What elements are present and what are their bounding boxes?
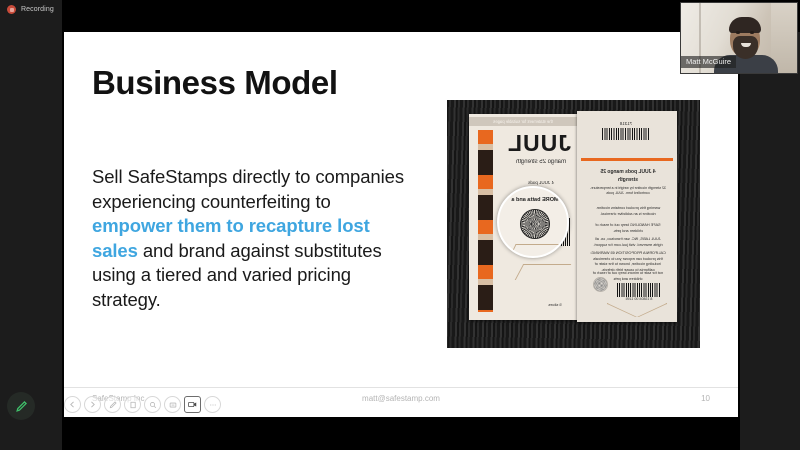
chevron-left-icon — [69, 401, 76, 408]
packaging-flavor-text: mango 25 strength — [511, 158, 571, 167]
page-title: Business Model — [92, 64, 338, 102]
notes-icon — [129, 401, 137, 409]
video-participant-eye-right — [750, 31, 754, 34]
next-slide-button[interactable] — [84, 396, 101, 413]
notes-button[interactable] — [124, 396, 141, 413]
packaging-header-text: the statement for suitable pages — [469, 117, 577, 126]
body-lead-text: Sell SafeStamps directly to companies ex… — [92, 166, 404, 212]
footer-page-number: 10 — [701, 394, 710, 403]
participant-name-label: Matt McGuire — [681, 56, 736, 68]
magnifier-callout: MORE batta and a — [497, 186, 569, 258]
packaging-description-line: 32 strength nicotine by weight in a temp… — [587, 186, 669, 197]
pen-icon — [15, 400, 28, 413]
video-participant-eye-left — [736, 31, 740, 34]
chevron-right-icon — [89, 401, 96, 408]
pen-icon — [109, 401, 117, 409]
recording-indicator: Recording — [7, 5, 54, 14]
recording-dot-icon — [7, 5, 16, 14]
slide-body-text: Sell SafeStamps directly to companies ex… — [92, 165, 404, 313]
packaging-bottom-barcode-number: 8 15804 00 1195 — [615, 297, 663, 301]
presentation-toolbar — [64, 396, 221, 413]
packaging-corner-text: 5 slices — [541, 302, 569, 307]
packaging-warning-line: warning this product contains nicotine. … — [593, 206, 663, 217]
magnified-security-stamp-icon — [520, 209, 550, 239]
ellipsis-icon — [209, 401, 217, 409]
meeting-left-rail: Recording — [0, 0, 62, 450]
camera-button[interactable] — [184, 396, 201, 413]
pen-annotation-button[interactable] — [104, 396, 121, 413]
packaging-product-line: 4 JUUL pods mango 25 strength — [593, 169, 663, 184]
magnified-fold-line — [510, 244, 559, 255]
packaging-company-line: JUUL LABS, INC. san francisco, ca. all r… — [593, 237, 663, 248]
meeting-screen-share-view: Business Model Sell SafeStamps directly … — [0, 0, 800, 450]
packaging-fold-line — [515, 264, 572, 280]
shared-slide: Business Model Sell SafeStamps directly … — [64, 32, 738, 417]
packaging-orange-rule — [581, 158, 673, 161]
packaging-color-strip — [478, 130, 493, 312]
magnifier-icon — [149, 401, 157, 409]
packaging-barcode-number: 71318 — [602, 121, 650, 126]
present-screen-icon — [169, 401, 177, 409]
packaging-header-band: the statement for suitable pages — [469, 117, 577, 126]
packaging-bottom-barcode — [617, 283, 661, 297]
self-view-video-tile[interactable]: Matt McGuire — [680, 2, 798, 74]
security-stamp-icon — [593, 277, 608, 292]
packaging-bottom-fold — [607, 303, 667, 317]
zoom-button[interactable] — [144, 396, 161, 413]
more-options-button[interactable] — [204, 396, 221, 413]
packaging-back-panel: 71318 4 JUUL pods mango 25 strength 32 s… — [577, 111, 677, 322]
present-button[interactable] — [164, 396, 181, 413]
recording-label: Recording — [21, 6, 54, 13]
letterbox-bottom — [62, 417, 740, 450]
packaging-top-barcode — [602, 128, 650, 140]
slide-image-juul-packaging: the statement for suitable pages JUUL ma… — [447, 100, 700, 348]
previous-slide-button[interactable] — [64, 396, 81, 413]
magnifier-caption-text: MORE batta and a — [507, 196, 563, 204]
annotate-pen-button[interactable] — [7, 392, 35, 420]
packaging-pod-count-text: 4 JUUL pods — [511, 180, 571, 185]
packaging-brand-text: JUUL — [507, 130, 571, 157]
meeting-right-rail — [740, 32, 800, 450]
packaging-handling-line: SAFE HANDLING keep out of reach of child… — [593, 223, 663, 234]
video-participant-hair — [729, 17, 761, 33]
video-camera-icon — [188, 401, 197, 408]
